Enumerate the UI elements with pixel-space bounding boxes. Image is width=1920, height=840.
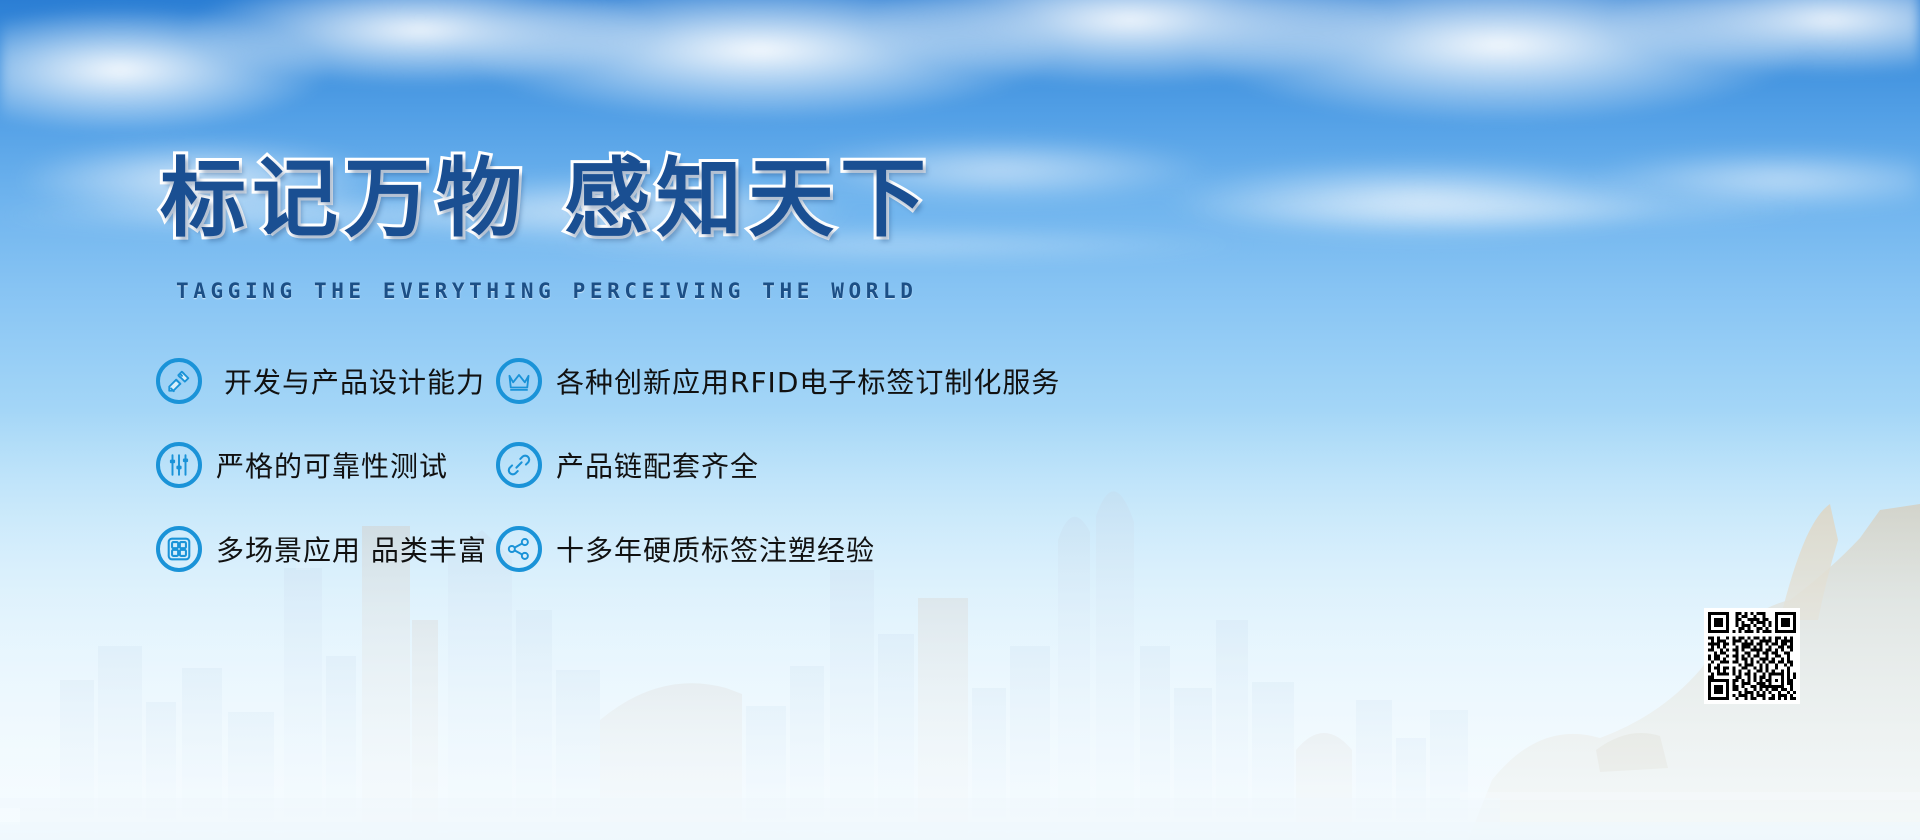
feature-item-injection-experience[interactable]: 十多年硬质标签注塑经验 xyxy=(496,516,1060,581)
feature-label: 多场景应用 品类丰富 xyxy=(216,529,487,569)
feature-item-multi-scenario[interactable]: 多场景应用 品类丰富 xyxy=(156,516,496,581)
share-network-icon xyxy=(496,526,542,572)
promo-banner: 标记万物 感知天下 TAGGING THE EVERYTHING PERCEIV… xyxy=(0,0,1920,840)
feature-column-right: 各种创新应用RFID电子标签订制化服务 产品链配套齐全 xyxy=(496,348,1060,600)
page-subtitle: TAGGING THE EVERYTHING PERCEIVING THE WO… xyxy=(176,279,917,303)
feature-label: 开发与产品设计能力 xyxy=(224,361,485,401)
grid-icon xyxy=(156,526,202,572)
feature-label: 产品链配套齐全 xyxy=(556,445,759,485)
link-icon xyxy=(496,442,542,488)
page-title: 标记万物 感知天下 xyxy=(160,128,932,253)
feature-label: 严格的可靠性测试 xyxy=(216,445,448,485)
sliders-icon xyxy=(156,442,202,488)
feature-item-reliability-test[interactable]: 严格的可靠性测试 xyxy=(156,432,496,497)
feature-label: 十多年硬质标签注塑经验 xyxy=(556,529,875,569)
qr-code[interactable] xyxy=(1704,608,1800,704)
feature-item-supply-chain[interactable]: 产品链配套齐全 xyxy=(496,432,1060,497)
feature-item-design[interactable]: 开发与产品设计能力 xyxy=(156,348,496,413)
feature-column-left: 开发与产品设计能力 严格的可靠性测试 xyxy=(156,348,496,600)
pencil-ruler-icon xyxy=(156,358,202,404)
feature-list: 开发与产品设计能力 严格的可靠性测试 xyxy=(156,348,1156,600)
crown-icon xyxy=(496,358,542,404)
feature-label: 各种创新应用RFID电子标签订制化服务 xyxy=(556,361,1060,401)
feature-item-rfid-customization[interactable]: 各种创新应用RFID电子标签订制化服务 xyxy=(496,348,1060,413)
